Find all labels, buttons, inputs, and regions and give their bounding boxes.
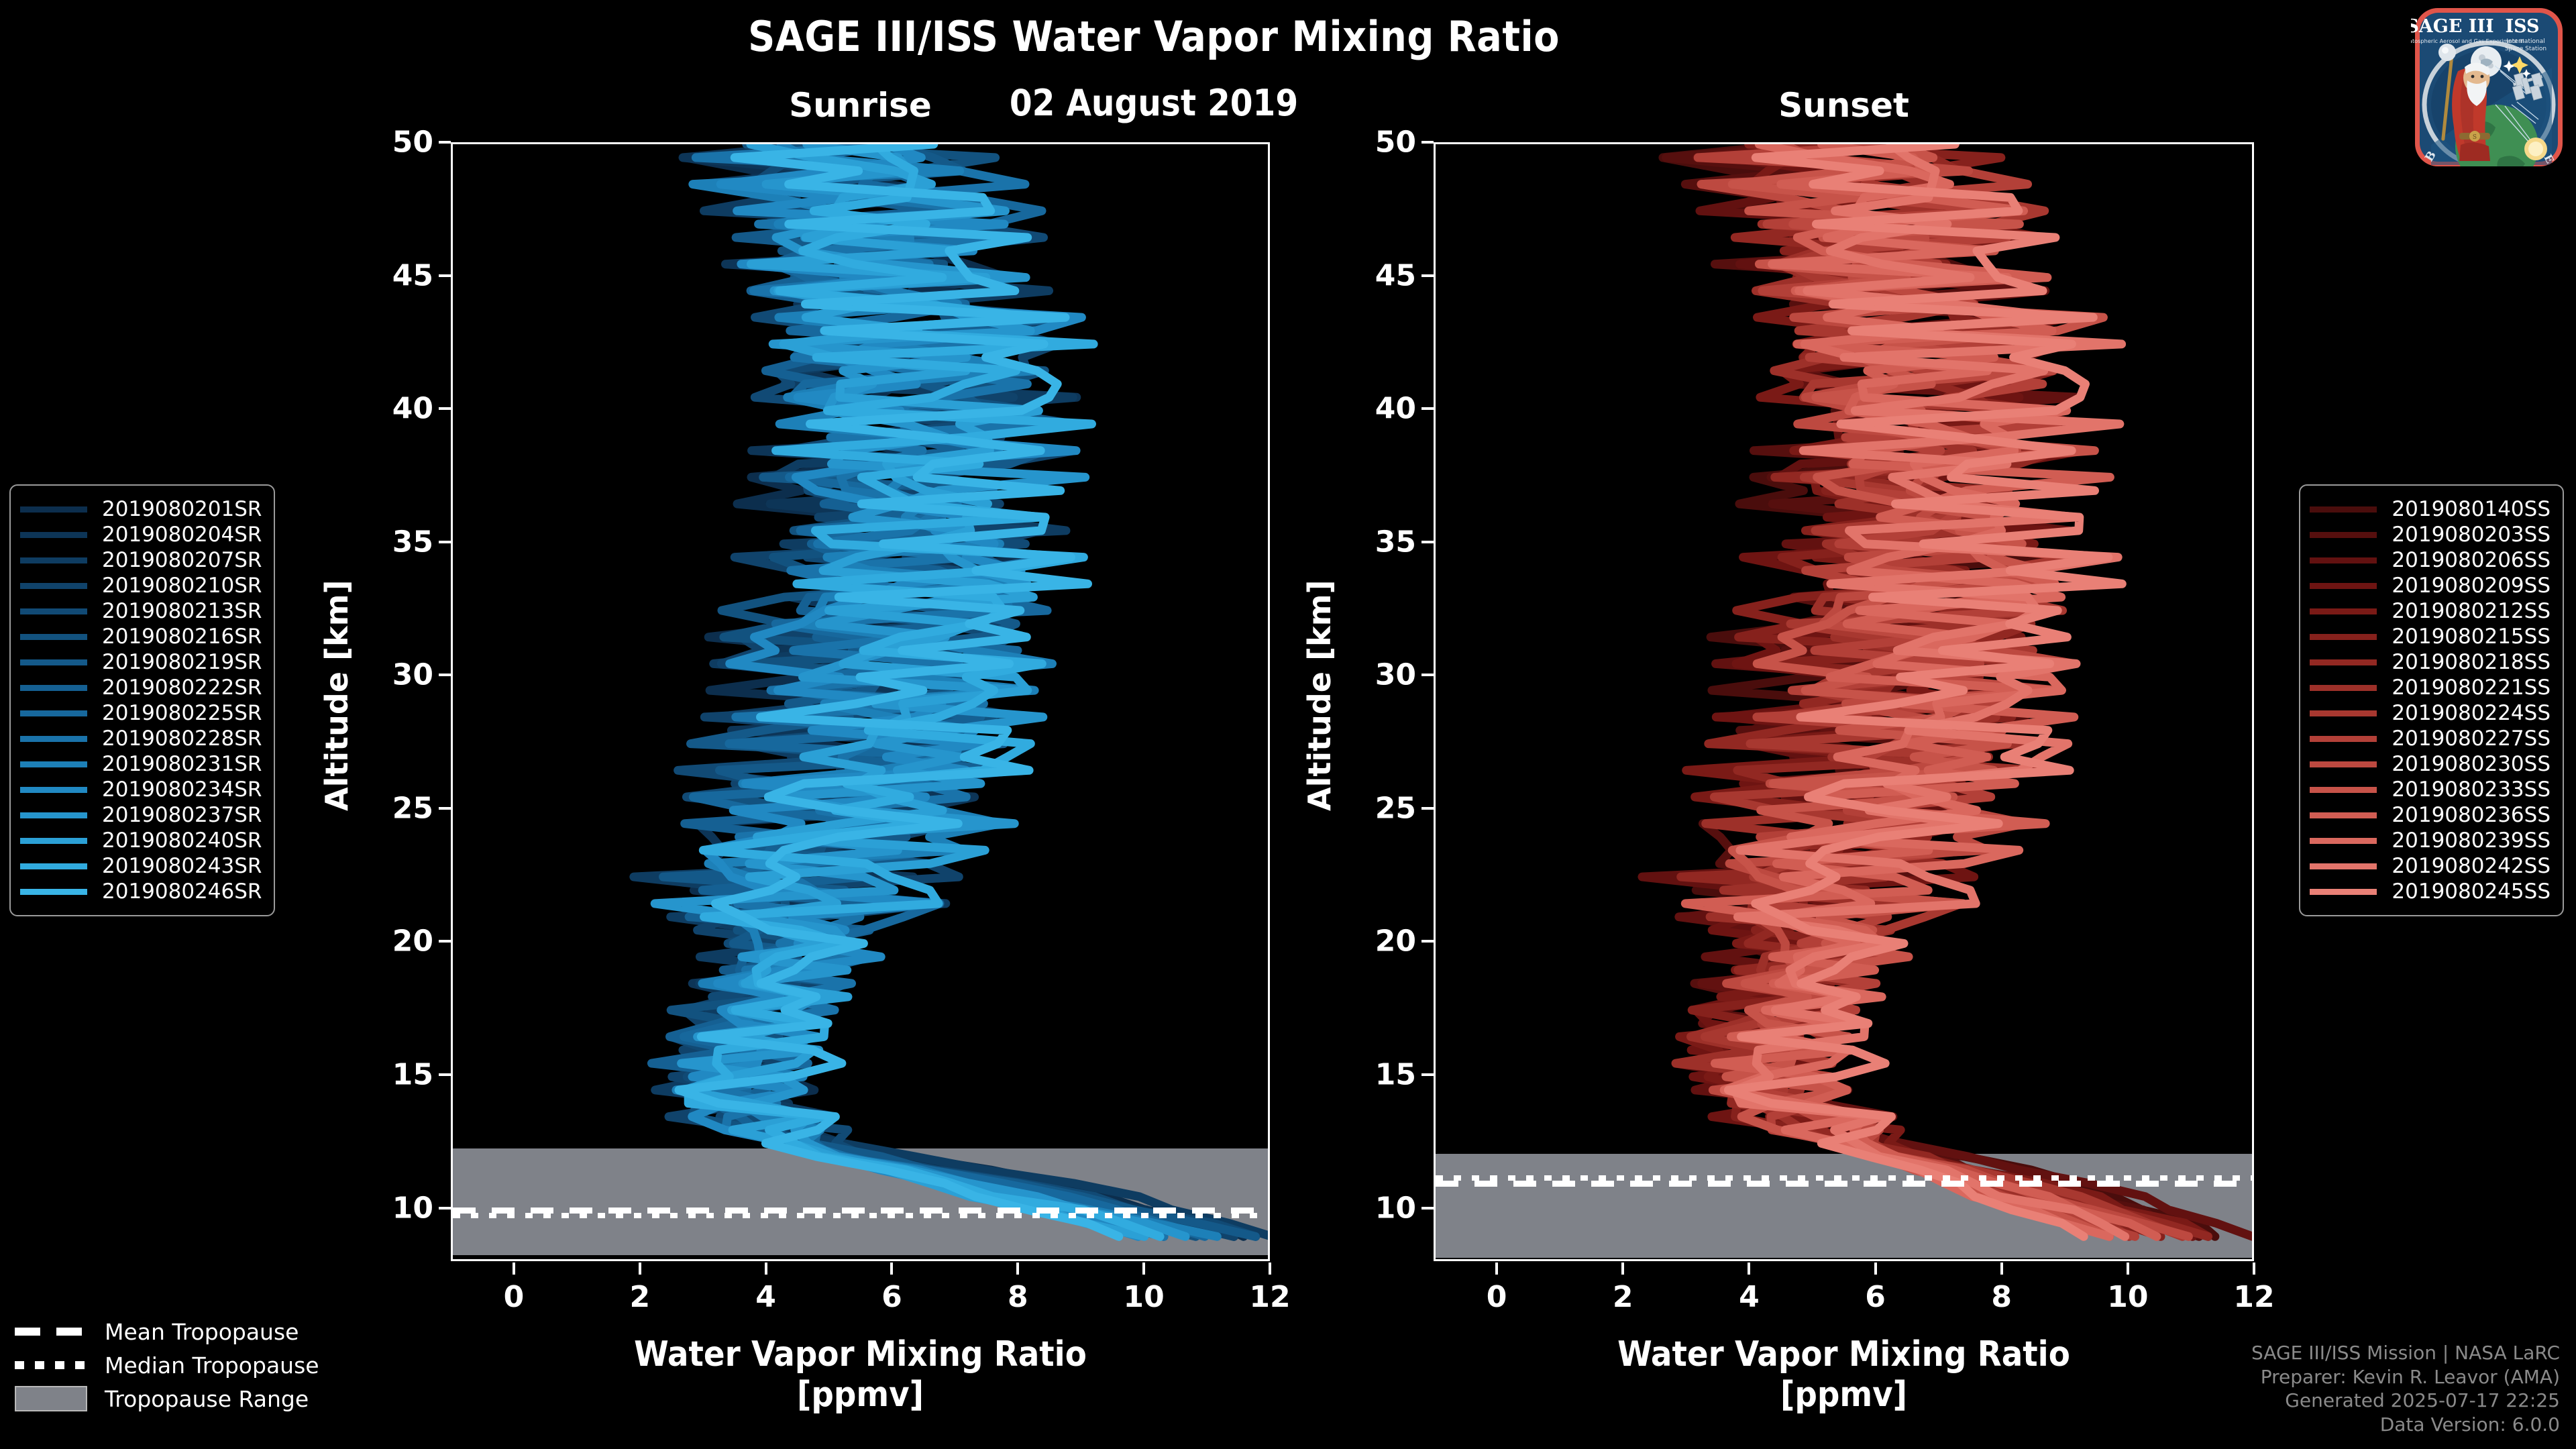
legend-item-label: 2019080215SS: [2392, 625, 2551, 649]
credits-line: Preparer: Kevin R. Leavor (AMA): [2251, 1365, 2560, 1389]
legend-item-label: 2019080231SR: [102, 752, 262, 776]
x-tick-label: 0: [1463, 1280, 1530, 1314]
x-tick-label: 8: [1968, 1280, 2035, 1314]
y-tick-label: 30: [360, 658, 433, 692]
sunrise-plot[interactable]: [451, 142, 1270, 1261]
y-tick-label: 50: [360, 125, 433, 160]
legend-item-label: 2019080237SR: [102, 803, 262, 827]
legend-item[interactable]: 2019080209SS: [2310, 573, 2551, 598]
patch-title-sage: SAGE III: [2411, 16, 2494, 37]
x-tick-label: 4: [733, 1280, 800, 1314]
legend-item-label: 2019080207SR: [102, 548, 262, 572]
legend-item-label: 2019080210SR: [102, 574, 262, 598]
legend-item[interactable]: 2019080234SR: [20, 777, 262, 802]
legend-item-label: 2019080218SS: [2392, 650, 2551, 674]
y-axis-label: Altitude [km]: [319, 596, 355, 811]
right-panel-title: Sunset: [1434, 86, 2254, 125]
legend-item[interactable]: 2019080233SS: [2310, 777, 2551, 802]
legend-item-label: 2019080213SR: [102, 599, 262, 623]
legend-item-label: 2019080230SS: [2392, 752, 2551, 776]
x-tick-mark: [1874, 1263, 1877, 1275]
legend-item-label: 2019080140SS: [2392, 497, 2551, 521]
patch-subtitle-iss-line1: International: [2506, 38, 2544, 45]
y-tick-label: 35: [1342, 525, 1416, 559]
sunrise-legend[interactable]: 2019080201SR2019080204SR2019080207SR2019…: [9, 484, 275, 916]
y-tick-label: 10: [1342, 1191, 1416, 1225]
tropopause-legend: Mean TropopauseMedian TropopauseTropopau…: [15, 1315, 319, 1415]
x-tick-mark: [1269, 1263, 1271, 1275]
legend-color-swatch: [20, 532, 87, 538]
tropopause-legend-label: Mean Tropopause: [105, 1319, 299, 1345]
y-tick-label: 20: [360, 924, 433, 959]
y-tick-label: 40: [1342, 392, 1416, 426]
legend-item[interactable]: 2019080246SR: [20, 879, 262, 904]
legend-item[interactable]: 2019080228SR: [20, 726, 262, 751]
x-tick-mark: [513, 1263, 515, 1275]
legend-item-label: 2019080216SR: [102, 625, 262, 649]
y-tick-label: 45: [1342, 258, 1416, 292]
legend-item-label: 2019080201SR: [102, 497, 262, 521]
legend-item-label: 2019080236SS: [2392, 803, 2551, 827]
legend-color-swatch: [20, 761, 87, 767]
legend-color-swatch: [2310, 532, 2377, 538]
y-tick-mark: [439, 541, 451, 543]
y-tick-mark: [439, 141, 451, 144]
legend-item[interactable]: 2019080221SS: [2310, 675, 2551, 700]
legend-color-swatch: [20, 838, 87, 844]
legend-color-swatch: [20, 685, 87, 691]
legend-color-swatch: [20, 863, 87, 869]
legend-item[interactable]: 2019080204SR: [20, 522, 262, 547]
legend-item-label: 2019080222SR: [102, 676, 262, 700]
mean-tropopause-line: [453, 1207, 1268, 1214]
legend-item-label: 2019080206SS: [2392, 548, 2551, 572]
legend-item-label: 2019080227SS: [2392, 727, 2551, 751]
legend-item[interactable]: 2019080227SS: [2310, 726, 2551, 751]
x-tick-label: 10: [2094, 1280, 2161, 1314]
x-tick-mark: [1142, 1263, 1145, 1275]
legend-item[interactable]: 2019080201SR: [20, 496, 262, 522]
median-tropopause-line: [453, 1213, 1268, 1218]
sunset-legend[interactable]: 2019080140SS2019080203SS2019080206SS2019…: [2299, 484, 2564, 916]
legend-item-label: 2019080204SR: [102, 523, 262, 547]
legend-item-label: 2019080209SS: [2392, 574, 2551, 598]
y-tick-label: 40: [360, 392, 433, 426]
x-tick-label: 8: [984, 1280, 1051, 1314]
y-tick-label: 50: [1342, 125, 1416, 160]
credits-line: Data Version: 6.0.0: [2251, 1413, 2560, 1437]
y-tick-label: 45: [360, 258, 433, 292]
legend-item-label: 2019080212SS: [2392, 599, 2551, 623]
credits-line: SAGE III/ISS Mission | NASA LaRC: [2251, 1341, 2560, 1365]
y-tick-mark: [1421, 1207, 1434, 1210]
legend-color-swatch: [2310, 736, 2377, 742]
legend-item-label: 2019080246SR: [102, 879, 262, 904]
mission-patch-svg: S B ESA SAGE III · ISS Stratospheric Aer…: [2411, 4, 2567, 170]
patch-subtitle-iss-line2: Space Station: [2505, 46, 2546, 52]
legend-item[interactable]: 2019080206SS: [2310, 547, 2551, 573]
y-tick-mark: [439, 807, 451, 810]
legend-color-swatch: [20, 506, 87, 513]
x-tick-mark: [2127, 1263, 2129, 1275]
legend-item-label: 2019080233SS: [2392, 777, 2551, 802]
y-tick-mark: [1421, 1073, 1434, 1076]
legend-color-swatch: [20, 736, 87, 742]
legend-color-swatch: [20, 710, 87, 716]
legend-item-label: 2019080242SS: [2392, 854, 2551, 878]
legend-color-swatch: [2310, 838, 2377, 844]
legend-color-swatch: [2310, 812, 2377, 818]
x-tick-label: 10: [1110, 1280, 1177, 1314]
x-tick-mark: [639, 1263, 641, 1275]
legend-color-swatch: [2310, 557, 2377, 563]
patch-title-dot: ·: [2485, 16, 2491, 37]
legend-item-label: 2019080234SR: [102, 777, 262, 802]
credits-block: SAGE III/ISS Mission | NASA LaRCPreparer…: [2251, 1341, 2560, 1437]
legend-item-label: 2019080239SS: [2392, 828, 2551, 853]
legend-item[interactable]: 2019080203SS: [2310, 522, 2551, 547]
tropopause-legend-item: Median Tropopause: [15, 1348, 319, 1382]
legend-item-label: 2019080225SR: [102, 701, 262, 725]
legend-item[interactable]: 2019080242SS: [2310, 853, 2551, 879]
x-tick-label: 4: [1715, 1280, 1782, 1314]
x-tick-mark: [1495, 1263, 1498, 1275]
legend-item[interactable]: 2019080224SS: [2310, 700, 2551, 726]
y-tick-mark: [1421, 274, 1434, 277]
legend-item-label: 2019080228SR: [102, 727, 262, 751]
legend-item-label: 2019080243SR: [102, 854, 262, 878]
legend-item[interactable]: 2019080218SS: [2310, 649, 2551, 675]
y-tick-mark: [1421, 674, 1434, 676]
legend-color-swatch: [20, 557, 87, 563]
legend-item[interactable]: 2019080140SS: [2310, 496, 2551, 522]
y-tick-mark: [1421, 141, 1434, 144]
y-tick-mark: [1421, 407, 1434, 410]
legend-color-swatch: [2310, 608, 2377, 614]
legend-item[interactable]: 2019080215SS: [2310, 624, 2551, 649]
x-axis-label: Water Vapor Mixing Ratio[ppmv]: [451, 1335, 1270, 1415]
legend-color-swatch: [2310, 659, 2377, 665]
y-tick-label: 35: [360, 525, 433, 559]
x-axis-label-line2: [ppmv]: [797, 1375, 924, 1415]
legend-item[interactable]: 2019080230SS: [2310, 751, 2551, 777]
left-panel-title: Sunrise: [451, 86, 1270, 125]
mean-tropopause-swatch: [15, 1328, 87, 1336]
mean-tropopause-line: [1436, 1181, 2252, 1187]
page-title: SAGE III/ISS Water Vapor Mixing Ratio: [0, 12, 2308, 61]
legend-item[interactable]: 2019080236SS: [2310, 802, 2551, 828]
x-tick-mark: [1748, 1263, 1750, 1275]
legend-item[interactable]: 2019080216SR: [20, 624, 262, 649]
x-axis-label: Water Vapor Mixing Ratio[ppmv]: [1434, 1335, 2254, 1415]
legend-item[interactable]: 2019080240SR: [20, 828, 262, 853]
legend-item[interactable]: 2019080231SR: [20, 751, 262, 777]
x-tick-label: 12: [2220, 1280, 2288, 1314]
y-tick-mark: [439, 407, 451, 410]
legend-color-swatch: [20, 787, 87, 793]
legend-item[interactable]: 2019080212SS: [2310, 598, 2551, 624]
patch-title-iss: ISS: [2505, 16, 2539, 37]
x-tick-label: 12: [1236, 1280, 1303, 1314]
y-tick-mark: [439, 940, 451, 943]
legend-color-swatch: [2310, 761, 2377, 767]
legend-color-swatch: [20, 608, 87, 614]
legend-color-swatch: [20, 889, 87, 895]
sunset-plot-area: [1436, 144, 2252, 1259]
legend-item[interactable]: 2019080237SR: [20, 802, 262, 828]
median-tropopause-swatch: [15, 1361, 87, 1369]
y-tick-mark: [439, 274, 451, 277]
tropopause-legend-item: Mean Tropopause: [15, 1315, 319, 1348]
sage-iii-iss-mission-patch-logo: S B ESA SAGE III · ISS Stratospheric Aer…: [2411, 4, 2567, 170]
y-tick-label: 15: [1342, 1058, 1416, 1092]
legend-color-swatch: [2310, 506, 2377, 513]
median-tropopause-line: [1436, 1175, 2252, 1181]
profile-lines: [1436, 144, 2252, 1259]
legend-item[interactable]: 2019080239SS: [2310, 828, 2551, 853]
y-tick-label: 25: [360, 791, 433, 825]
x-tick-label: 6: [858, 1280, 925, 1314]
legend-color-swatch: [2310, 583, 2377, 589]
x-tick-mark: [765, 1263, 767, 1275]
tropopause-range-swatch: [15, 1386, 87, 1411]
legend-color-swatch: [2310, 685, 2377, 691]
y-tick-label: 25: [1342, 791, 1416, 825]
legend-item[interactable]: 2019080210SR: [20, 573, 262, 598]
legend-color-swatch: [2310, 634, 2377, 640]
y-tick-label: 10: [360, 1191, 433, 1225]
y-tick-mark: [1421, 541, 1434, 543]
legend-item[interactable]: 2019080213SR: [20, 598, 262, 624]
legend-item-label: 2019080221SS: [2392, 676, 2551, 700]
y-tick-label: 30: [1342, 658, 1416, 692]
y-tick-mark: [1421, 807, 1434, 810]
x-tick-label: 2: [606, 1280, 674, 1314]
x-tick-mark: [2000, 1263, 2003, 1275]
svg-text:S: S: [2473, 134, 2477, 141]
legend-color-swatch: [2310, 710, 2377, 716]
tropopause-legend-label: Median Tropopause: [105, 1352, 319, 1379]
y-axis-label: Altitude [km]: [1301, 596, 1338, 811]
legend-color-swatch: [20, 583, 87, 589]
legend-item[interactable]: 2019080219SR: [20, 649, 262, 675]
legend-item[interactable]: 2019080207SR: [20, 547, 262, 573]
legend-item[interactable]: 2019080243SR: [20, 853, 262, 879]
x-tick-mark: [890, 1263, 893, 1275]
x-tick-mark: [1016, 1263, 1019, 1275]
legend-color-swatch: [2310, 889, 2377, 895]
tropopause-legend-item: Tropopause Range: [15, 1382, 319, 1415]
legend-item-label: 2019080245SS: [2392, 879, 2551, 904]
y-tick-mark: [1421, 940, 1434, 943]
y-tick-mark: [439, 1073, 451, 1076]
legend-item-label: 2019080219SR: [102, 650, 262, 674]
legend-item-label: 2019080240SR: [102, 828, 262, 853]
y-tick-mark: [439, 1207, 451, 1210]
x-tick-mark: [2253, 1263, 2255, 1275]
legend-color-swatch: [20, 659, 87, 665]
x-tick-mark: [1621, 1263, 1624, 1275]
x-tick-label: 0: [480, 1280, 547, 1314]
tropopause-legend-label: Tropopause Range: [105, 1386, 309, 1412]
legend-color-swatch: [2310, 863, 2377, 869]
legend-item[interactable]: 2019080222SR: [20, 675, 262, 700]
sunrise-plot-area: [453, 144, 1268, 1259]
profile-lines: [453, 144, 1268, 1259]
x-tick-label: 6: [1842, 1280, 1909, 1314]
y-tick-mark: [439, 674, 451, 676]
legend-color-swatch: [20, 634, 87, 640]
x-tick-label: 2: [1589, 1280, 1656, 1314]
x-axis-label-line1: Water Vapor Mixing Ratio: [634, 1334, 1087, 1375]
x-axis-label-line1: Water Vapor Mixing Ratio: [1617, 1334, 2070, 1375]
legend-color-swatch: [2310, 787, 2377, 793]
x-axis-label-line2: [ppmv]: [1780, 1375, 1907, 1415]
credits-line: Generated 2025-07-17 22:25: [2251, 1389, 2560, 1413]
legend-item-label: 2019080203SS: [2392, 523, 2551, 547]
legend-item[interactable]: 2019080245SS: [2310, 879, 2551, 904]
legend-color-swatch: [20, 812, 87, 818]
legend-item[interactable]: 2019080225SR: [20, 700, 262, 726]
legend-item-label: 2019080224SS: [2392, 701, 2551, 725]
sunset-plot[interactable]: [1434, 142, 2254, 1261]
y-tick-label: 15: [360, 1058, 433, 1092]
y-tick-label: 20: [1342, 924, 1416, 959]
